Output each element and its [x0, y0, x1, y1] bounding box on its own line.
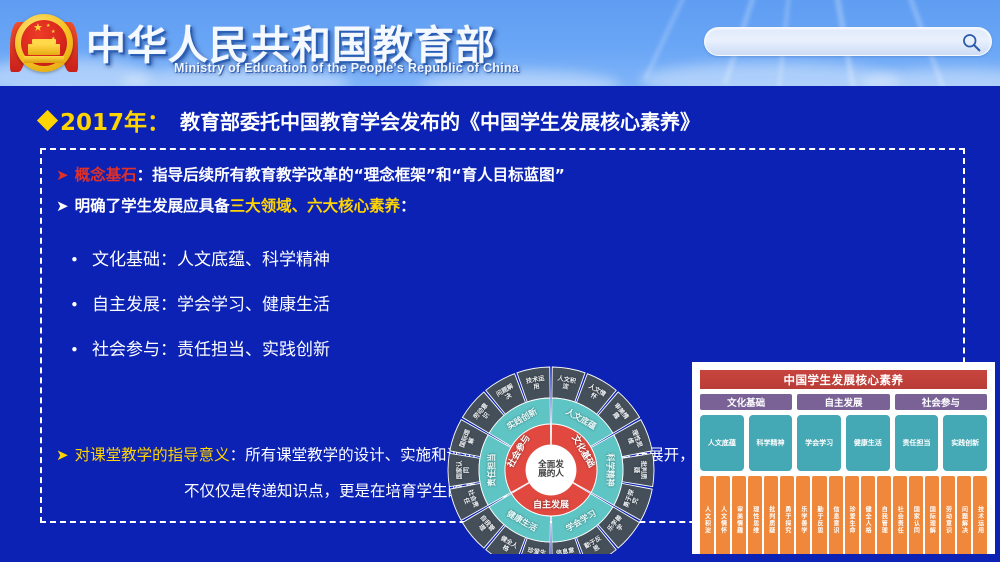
framework-point-cell: 劳动意识	[941, 476, 955, 562]
framework-point-cell: 人文积淀	[700, 476, 714, 562]
lead-2-keyword: 三大领域、六大核心素养	[230, 197, 401, 215]
framework-point-cell: 信息意识	[829, 476, 843, 562]
framework-domain-cell: 文化基础	[700, 394, 792, 410]
framework-domain-cell: 自主发展	[797, 394, 889, 410]
site-header: ★ ★ ★ ★ ★ 中华人民共和国教育部 Ministry of Educati…	[0, 0, 1000, 86]
ministry-subtitle: Ministry of Education of the People's Re…	[174, 61, 519, 75]
framework-title: 中国学生发展核心素养	[700, 370, 987, 389]
framework-table-image: 中国学生发展核心素养 文化基础自主发展社会参与 人文底蕴科学精神学会学习健康生活…	[692, 362, 995, 562]
framework-point-cell: 批判质疑	[764, 476, 778, 562]
framework-point-cell: 国家认同	[909, 476, 923, 562]
framework-domain-cell: 社会参与	[895, 394, 987, 410]
search-input[interactable]	[717, 28, 953, 57]
framework-point-cell: 社会责任	[893, 476, 907, 562]
framework-point-row: 人文积淀人文情怀审美情趣理性思维批判质疑勇于探究乐学善学勤于反思信息意识珍爱生命…	[700, 476, 987, 562]
framework-competency-cell: 实践创新	[943, 415, 987, 471]
framework-point-cell: 人文情怀	[716, 476, 730, 562]
list-item-label: 自主发展：学会学习、健康生活	[92, 290, 330, 315]
bullet-dot-icon: •	[70, 251, 92, 269]
slide-root: ★ ★ ★ ★ ★ 中华人民共和国教育部 Ministry of Educati…	[0, 0, 1000, 562]
search-bar[interactable]	[704, 27, 992, 56]
lead-1-rest: ：指导后续所有教育教学改革的“理念框架”和“育人目标蓝图”	[137, 166, 565, 184]
bullet-dot-icon: •	[70, 341, 92, 359]
content-panel: ➤概念基石：指导后续所有教育教学改革的“理念框架”和“育人目标蓝图” ➤明确了学…	[40, 148, 965, 523]
wheel-core	[526, 445, 576, 495]
framework-competency-cell: 人文底蕴	[700, 415, 744, 471]
bullet-list: • 文化基础：人文底蕴、科学精神 • 自主发展：学会学习、健康生活 • 社会参与…	[70, 245, 440, 380]
list-item: • 社会参与：责任担当、实践创新	[70, 335, 440, 360]
framework-point-cell: 自我管理	[877, 476, 891, 562]
list-item: • 自主发展：学会学习、健康生活	[70, 290, 440, 315]
framework-point-cell: 问题解决	[957, 476, 971, 562]
search-icon[interactable]	[961, 32, 982, 53]
framework-competency-cell: 科学精神	[749, 415, 793, 471]
arrow-marker-icon: ➤	[56, 446, 69, 464]
framework-point-cell: 珍爱生命	[845, 476, 859, 562]
framework-point-cell: 技术运用	[973, 476, 987, 562]
core-competency-wheel: 人文积淀人文情怀审美情趣理性思维批判质疑勇于探究乐学善学勤于反思信息意识珍爱生命…	[446, 365, 656, 562]
lead-2-suffix: ：	[400, 197, 416, 215]
arrow-marker-icon: ➤	[56, 197, 69, 215]
lead-line-1: ➤概念基石：指导后续所有教育教学改革的“理念框架”和“育人目标蓝图”	[56, 163, 565, 185]
title-main: 教育部委托中国教育学会发布的《中国学生发展核心素养》	[180, 106, 700, 135]
national-emblem-icon: ★ ★ ★ ★ ★	[8, 6, 80, 82]
framework-competency-row: 人文底蕴科学精神学会学习健康生活责任担当实践创新	[700, 415, 987, 471]
title-year: 2017年：	[60, 103, 170, 137]
framework-point-cell: 理性思维	[748, 476, 762, 562]
list-item-label: 文化基础：人文底蕴、科学精神	[92, 245, 330, 270]
list-item: • 文化基础：人文底蕴、科学精神	[70, 245, 440, 270]
framework-competency-cell: 责任担当	[895, 415, 939, 471]
framework-competency-cell: 健康生活	[846, 415, 890, 471]
wheel-segment	[448, 453, 480, 486]
lead-2-prefix: 明确了学生发展应具备	[75, 197, 230, 215]
arrow-marker-icon: ➤	[56, 166, 69, 184]
framework-domain-row: 文化基础自主发展社会参与	[700, 394, 987, 410]
framework-point-cell: 勤于反思	[812, 476, 826, 562]
diamond-bullet-icon	[37, 109, 58, 130]
bullet-dot-icon: •	[70, 296, 92, 314]
framework-point-cell: 审美情趣	[732, 476, 746, 562]
framework-point-cell: 国际理解	[925, 476, 939, 562]
lead-1-keyword: 概念基石	[75, 166, 137, 184]
framework-point-cell: 勇于探究	[780, 476, 794, 562]
framework-point-cell: 健全人格	[861, 476, 875, 562]
paragraph-keyword: 对课堂教学的指导意义	[75, 446, 230, 464]
bottom-strip	[0, 554, 1000, 562]
framework-competency-cell: 学会学习	[797, 415, 841, 471]
slide-title: 2017年： 教育部委托中国教育学会发布的《中国学生发展核心素养》	[40, 103, 960, 137]
list-item-label: 社会参与：责任担当、实践创新	[92, 335, 330, 360]
wheel-svg	[446, 365, 656, 562]
lead-line-2: ➤明确了学生发展应具备三大领域、六大核心素养：	[56, 194, 416, 216]
framework-point-cell: 乐学善学	[796, 476, 810, 562]
wheel-segment	[622, 453, 654, 486]
